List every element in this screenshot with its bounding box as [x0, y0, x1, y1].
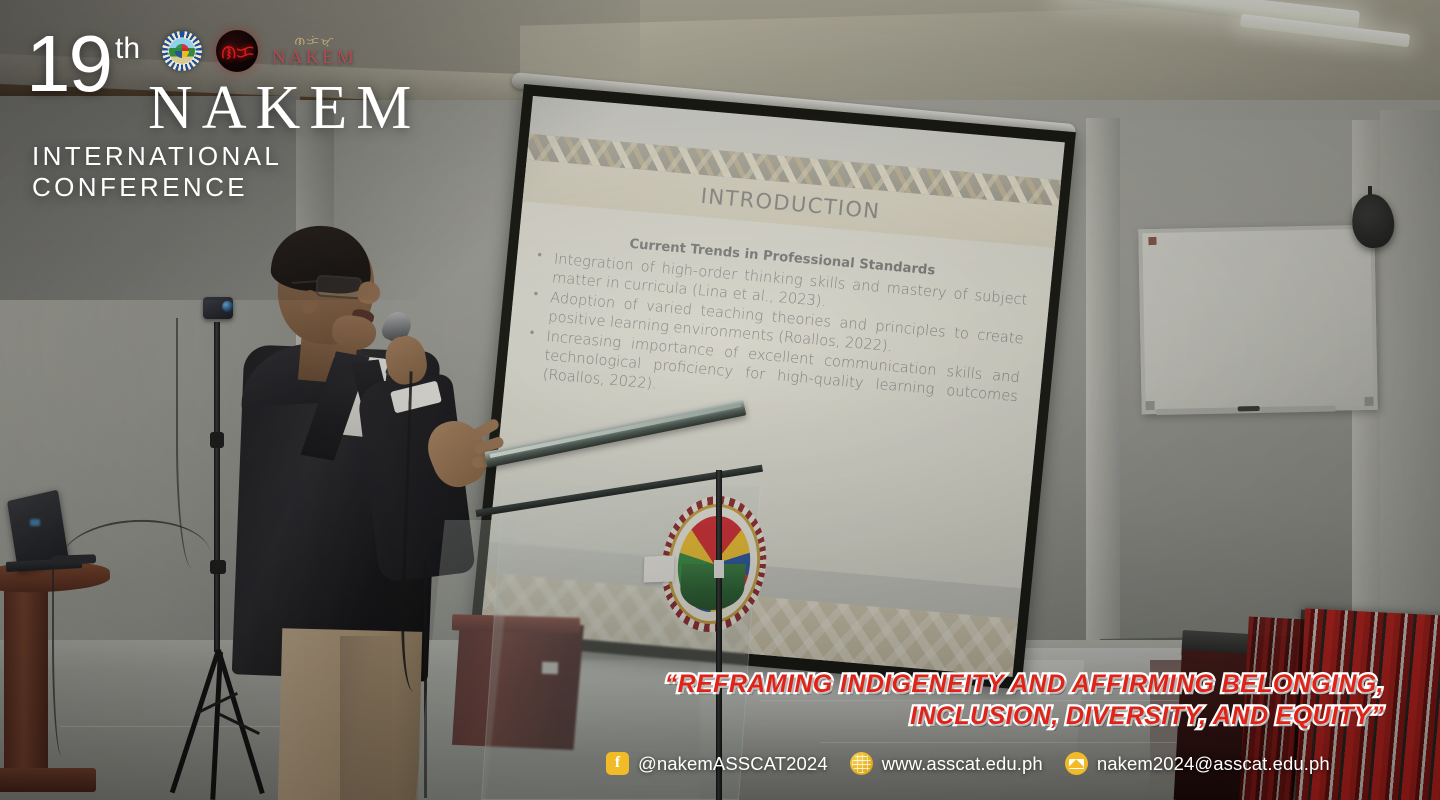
podium-post-clip — [714, 560, 724, 578]
theme-line-1: “REFRAMING INDIGENEITY AND AFFIRMING BEL… — [665, 668, 1384, 700]
presenter-trousers-shadow — [340, 636, 392, 800]
nakem-logo-text: NAKEM — [272, 48, 357, 67]
partner-logos: ᜈᜃ ᜈᜃᜒᜋ᜔ NAKEM — [162, 30, 357, 72]
email-icon — [1065, 752, 1088, 775]
facebook-handle: @nakemASSCAT2024 — [638, 753, 828, 775]
podium-mic-stand-post — [716, 470, 722, 800]
edition-suffix: th — [115, 32, 140, 66]
conference-photo-slide: INTRODUCTION Current Trends in Professio… — [0, 0, 1440, 800]
website-url: www.asscat.edu.ph — [882, 753, 1043, 775]
eyeglasses-icon — [315, 274, 362, 299]
facebook-icon: f — [606, 752, 629, 775]
edition-number: 19 — [26, 32, 111, 96]
conference-theme: “REFRAMING INDIGENEITY AND AFFIRMING BEL… — [665, 668, 1384, 732]
conference-name: NAKEM — [148, 80, 496, 137]
conference-branding: 19 th ᜈᜃ ᜈᜃᜒᜋ᜔ NAKEM NAKEM INTERNATIONAL… — [26, 22, 496, 203]
nakem-baybayin-script: ᜈᜃᜒᜋ᜔ — [294, 36, 334, 46]
contact-facebook[interactable]: f @nakemASSCAT2024 — [606, 752, 828, 775]
contact-bar: f @nakemASSCAT2024 www.asscat.edu.ph nak… — [606, 752, 1330, 775]
baybayin-glyph: ᜈᜃ — [221, 38, 254, 64]
globe-icon — [850, 752, 873, 775]
conference-subtitle: INTERNATIONAL CONFERENCE — [32, 141, 496, 203]
asscat-seal-logo-icon — [162, 31, 202, 71]
contact-website[interactable]: www.asscat.edu.ph — [850, 752, 1043, 775]
podium-note-card — [644, 555, 675, 582]
theme-line-2: INCLUSION, DIVERSITY, AND EQUITY” — [665, 700, 1384, 732]
email-address: nakem2024@asscat.edu.ph — [1097, 753, 1330, 775]
nakem-baybayin-logo-icon: ᜈᜃ — [216, 30, 258, 72]
nakem-wordmark-logo: ᜈᜃᜒᜋ᜔ NAKEM — [272, 35, 357, 67]
contact-email[interactable]: nakem2024@asscat.edu.ph — [1065, 752, 1330, 775]
